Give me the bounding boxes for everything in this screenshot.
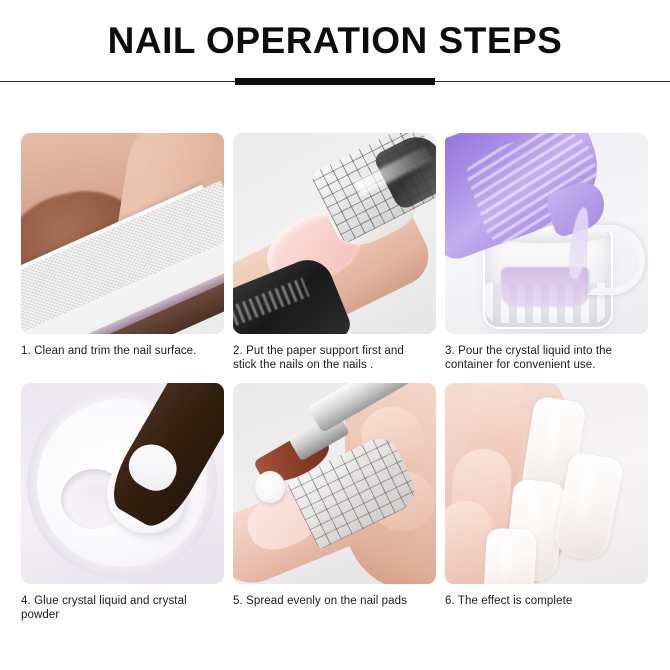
step-caption-5: 5. Spread evenly on the nail pads: [233, 594, 436, 608]
step-card-3: 3. Pour the crystal liquid into the cont…: [445, 133, 648, 372]
steps-row-bottom: 4. Glue crystal liquid and crystal powde…: [21, 383, 649, 622]
header: NAIL OPERATION STEPS: [0, 0, 670, 59]
step-photo-1: [21, 133, 224, 334]
step-photo-2: [233, 133, 436, 334]
step-caption-3: 3. Pour the crystal liquid into the cont…: [445, 344, 648, 372]
steps-row-top: 1. Clean and trim the nail surface. 2. P…: [21, 133, 649, 372]
step-photo-5: [233, 383, 436, 584]
step-photo-6: [445, 383, 648, 584]
step-card-1: 1. Clean and trim the nail surface.: [21, 133, 224, 372]
step-card-6: 6. The effect is complete: [445, 383, 648, 622]
steps-grid: 1. Clean and trim the nail surface. 2. P…: [21, 133, 649, 622]
step-card-4: 4. Glue crystal liquid and crystal powde…: [21, 383, 224, 622]
step-caption-2: 2. Put the paper support first and stick…: [233, 344, 436, 372]
step-caption-1: 1. Clean and trim the nail surface.: [21, 344, 224, 358]
step-card-2: 2. Put the paper support first and stick…: [233, 133, 436, 372]
title-divider: [0, 77, 670, 87]
step-photo-3: [445, 133, 648, 334]
step-caption-6: 6. The effect is complete: [445, 594, 648, 608]
divider-thick-bar: [235, 78, 435, 85]
page-title: NAIL OPERATION STEPS: [0, 22, 670, 59]
glass-handle: [587, 225, 645, 295]
step-photo-4: [21, 383, 224, 584]
step-caption-4: 4. Glue crystal liquid and crystal powde…: [21, 594, 224, 622]
step-card-5: 5. Spread evenly on the nail pads: [233, 383, 436, 622]
acrylic-bead-on-nail: [255, 471, 285, 503]
